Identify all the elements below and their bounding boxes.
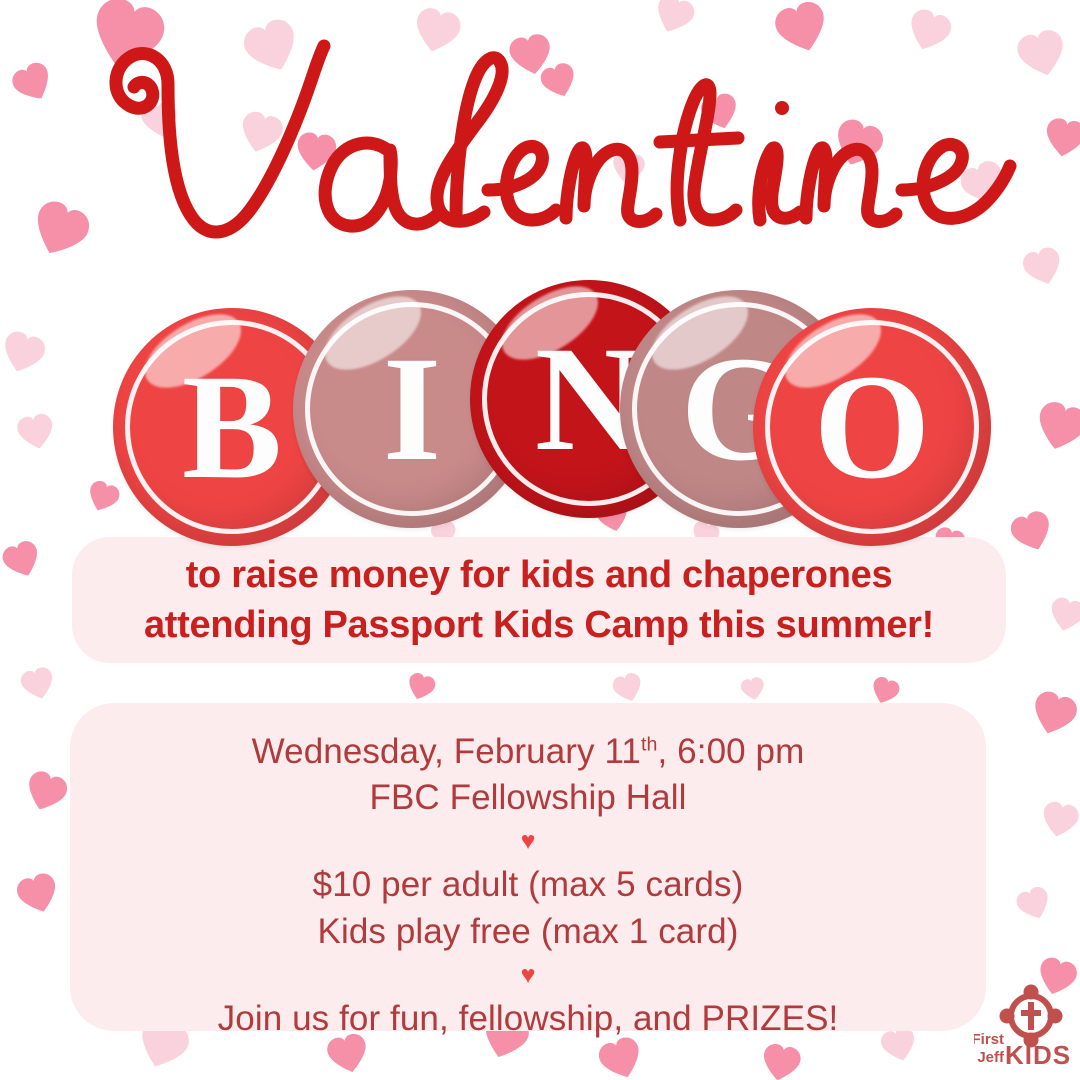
confetti-heart-icon: [1036, 796, 1080, 843]
first-jeff-kids-logo: First Jeff KIDS: [974, 982, 1070, 1074]
event-venue: FBC Fellowship Hall: [370, 775, 687, 821]
confetti-heart-icon: [1011, 881, 1058, 928]
headline-panel: to raise money for kids and chaperones a…: [72, 537, 1006, 663]
event-datetime: Wednesday, February 11th, 6:00 pm: [252, 729, 805, 775]
logo-text-first: First: [974, 1031, 1004, 1048]
confetti-heart-icon: [738, 674, 769, 705]
price-kids: Kids play free (max 1 card): [318, 909, 739, 955]
ball-letter: O: [814, 352, 931, 502]
event-details-panel: Wednesday, February 11th, 6:00 pm FBC Fe…: [70, 703, 986, 1031]
logo-text-kids: KIDS: [1005, 1040, 1070, 1070]
confetti-heart-icon: [16, 662, 61, 707]
headline-line-1: to raise money for kids and chaperones: [186, 550, 893, 600]
valentine-script-svg: [60, 24, 1020, 274]
ball-letter: B: [182, 352, 282, 502]
confetti-heart-icon: [1024, 684, 1080, 744]
ball-letter: I: [383, 334, 441, 484]
bingo-balls-row: BINGO: [0, 272, 1080, 522]
event-date-ordinal: th: [641, 733, 658, 755]
headline-line-2: attending Passport Kids Camp this summer…: [144, 600, 934, 650]
confetti-heart-icon: [1044, 592, 1080, 638]
church-cross-emblem-icon: First Jeff KIDS: [974, 982, 1070, 1074]
heart-divider-icon-1: ♥: [521, 829, 536, 854]
confetti-heart-icon: [756, 1038, 806, 1080]
price-adult: $10 per adult (max 5 cards): [313, 862, 744, 908]
title-valentine: [0, 24, 1080, 274]
event-date-prefix: Wednesday, February 11: [252, 732, 641, 771]
valentine-bingo-flyer: BINGO to raise money for kids and chaper…: [0, 0, 1080, 1080]
confetti-heart-icon: [18, 764, 74, 820]
closing-invitation: Join us for fun, fellowship, and PRIZES!: [218, 996, 839, 1042]
heart-divider-icon-2: ♥: [521, 963, 536, 988]
logo-text-jeff: Jeff: [977, 1049, 1005, 1066]
confetti-heart-icon: [0, 534, 48, 586]
bingo-ball-o: O: [753, 308, 991, 546]
confetti-heart-icon: [10, 866, 65, 921]
event-time: , 6:00 pm: [658, 732, 805, 771]
confetti-heart-icon: [402, 668, 440, 706]
